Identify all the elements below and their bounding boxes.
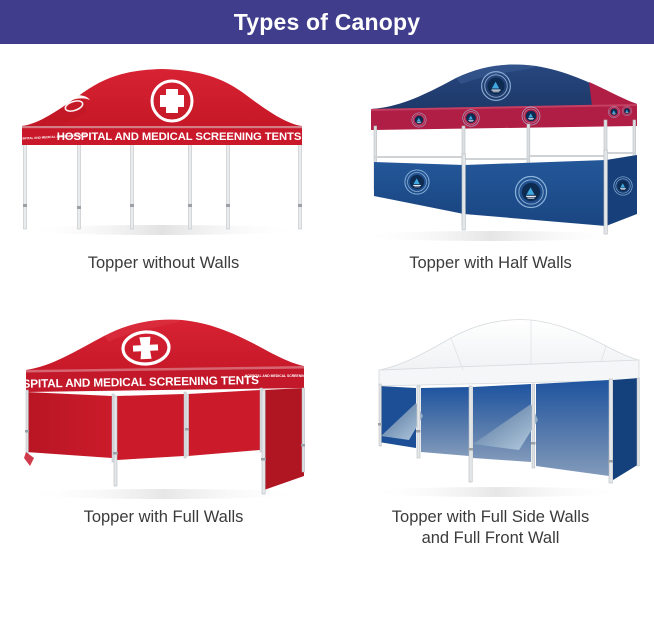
frame-rails xyxy=(374,152,635,160)
tent-legs xyxy=(23,144,302,229)
canopy-card-topper-with-half-walls[interactable]: Topper with Half Walls xyxy=(327,44,654,294)
page-title: Types of Canopy xyxy=(234,9,421,36)
side-wall-right xyxy=(613,378,639,480)
caption-line-2: and Full Front Wall xyxy=(422,529,560,547)
front-wall-panel-1 xyxy=(421,387,469,456)
front-wall-panel-3 xyxy=(536,380,609,476)
canopy-caption: Topper with Half Walls xyxy=(409,253,572,274)
tent-illustration-topper-with-full-walls: HOSPITAL AND MEDICAL SCREENING TENTS HOS… xyxy=(4,308,324,503)
full-wall-right xyxy=(264,388,304,490)
canopy-caption: Topper with Full Side Walls and Full Fro… xyxy=(392,507,589,549)
types-of-canopy-infographic: Types of Canopy xyxy=(0,0,654,621)
tent-illustration-topper-with-half-walls xyxy=(331,54,651,249)
canopy-card-topper-without-walls[interactable]: HOSPITAL AND MEDICAL SCREENING TENTS HOS… xyxy=(0,44,327,294)
canopy-card-topper-with-full-side-and-front-walls[interactable]: Topper with Full Side Walls and Full Fro… xyxy=(327,294,654,621)
tent-illustration-topper-full-side-front-walls xyxy=(331,308,651,503)
caption-line-1: Topper with Full Side Walls xyxy=(392,508,589,526)
ground-shadow xyxy=(22,225,302,235)
wall-flap xyxy=(24,452,34,466)
canopy-caption: Topper with Full Walls xyxy=(84,507,244,528)
ground-shadow xyxy=(366,487,626,497)
tent-illustration-topper-without-walls: HOSPITAL AND MEDICAL SCREENING TENTS HOS… xyxy=(4,54,324,249)
canopy-card-topper-with-full-walls[interactable]: HOSPITAL AND MEDICAL SCREENING TENTS HOS… xyxy=(0,294,327,621)
full-wall-center-b xyxy=(188,390,260,456)
canopy-type-grid: HOSPITAL AND MEDICAL SCREENING TENTS HOS… xyxy=(0,44,654,621)
valance-top-edge xyxy=(22,126,302,128)
side-valance-text: HOSPITAL AND MEDICAL SCREENING TENTS xyxy=(244,374,319,378)
full-wall-left xyxy=(26,392,112,458)
ground-shadow xyxy=(356,231,626,241)
canopy-caption: Topper without Walls xyxy=(88,253,240,274)
page-header: Types of Canopy xyxy=(0,0,654,44)
valance-text: HOSPITAL AND MEDICAL SCREENING TENTS xyxy=(56,131,301,143)
full-wall-center-a xyxy=(117,394,184,460)
